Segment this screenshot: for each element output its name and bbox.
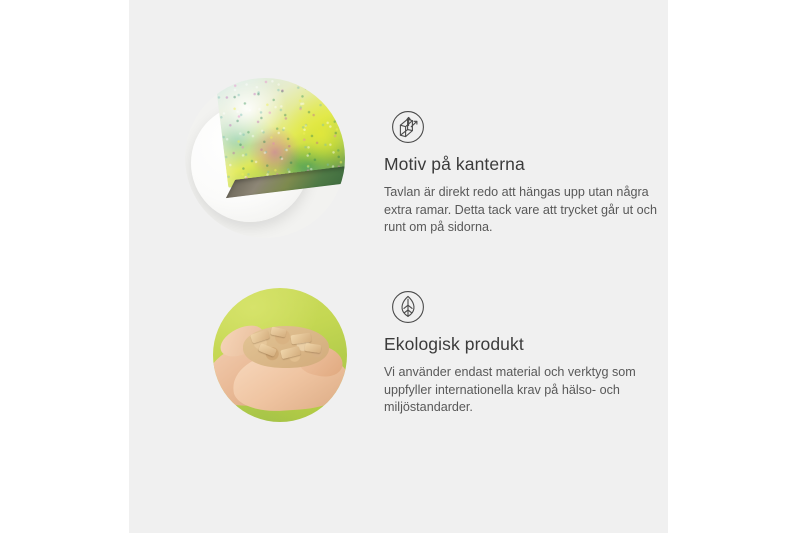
leaf-icon bbox=[386, 285, 430, 329]
wood-chip bbox=[270, 327, 286, 338]
wood-chip bbox=[305, 343, 322, 353]
feature-block-ekologisk-produkt: Ekologisk produkt Vi använder endast mat… bbox=[129, 272, 668, 457]
feature-text-motiv-pa-kanterna: Motiv på kanterna Tavlan är direkt redo … bbox=[384, 154, 660, 237]
wrapped-canvas-edge-icon bbox=[386, 105, 430, 149]
feature-body: Vi använder endast material och verktyg … bbox=[384, 364, 660, 417]
canvas-print-object bbox=[215, 78, 345, 214]
feature-panel-screenshot: Motiv på kanterna Tavlan är direkt redo … bbox=[0, 0, 800, 533]
wood-chip bbox=[280, 346, 301, 359]
canvas-print-corner-photo bbox=[185, 78, 345, 238]
feature-block-motiv-pa-kanterna: Motiv på kanterna Tavlan är direkt redo … bbox=[129, 66, 668, 266]
feature-text-ekologisk-produkt: Ekologisk produkt Vi använder endast mat… bbox=[384, 334, 660, 417]
feature-title: Motiv på kanterna bbox=[384, 154, 660, 175]
feature-body: Tavlan är direkt redo att hängas upp uta… bbox=[384, 184, 660, 237]
feature-title: Ekologisk produkt bbox=[384, 334, 660, 355]
wood-chip bbox=[258, 343, 277, 357]
content-panel: Motiv på kanterna Tavlan är direkt redo … bbox=[129, 0, 668, 533]
hands-holding-wood-chips-photo bbox=[213, 288, 347, 422]
wood-chips-pile bbox=[243, 326, 329, 368]
